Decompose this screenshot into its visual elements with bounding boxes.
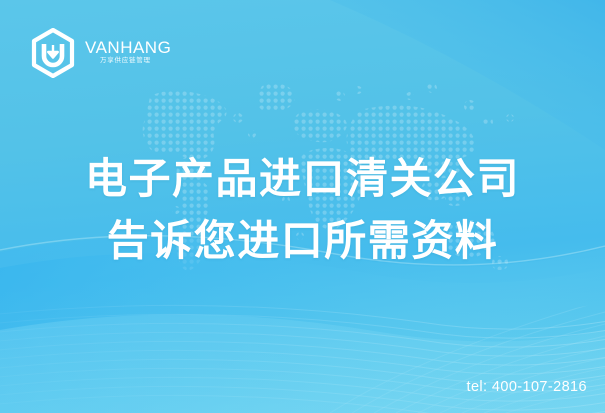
headline-line-2: 告诉您进口所需资料 <box>0 210 605 272</box>
promo-banner: VANHANG 万享供应链管理 电子产品进口清关公司 告诉您进口所需资料 tel… <box>0 0 605 413</box>
contact-phone: tel: 400-107-2816 <box>467 379 587 395</box>
vanhang-wordmark-icon: VANHANG 万享供应链管理 <box>85 36 195 70</box>
headline-line-1: 电子产品进口清关公司 <box>0 148 605 210</box>
brand-logo[interactable]: VANHANG 万享供应链管理 <box>30 28 195 78</box>
headline-block: 电子产品进口清关公司 告诉您进口所需资料 <box>0 148 605 272</box>
logo-wordmark-block: VANHANG 万享供应链管理 <box>85 33 195 73</box>
vanhang-hexagon-logo-icon <box>30 28 76 78</box>
logo-wordmark-text: VANHANG <box>85 38 171 57</box>
